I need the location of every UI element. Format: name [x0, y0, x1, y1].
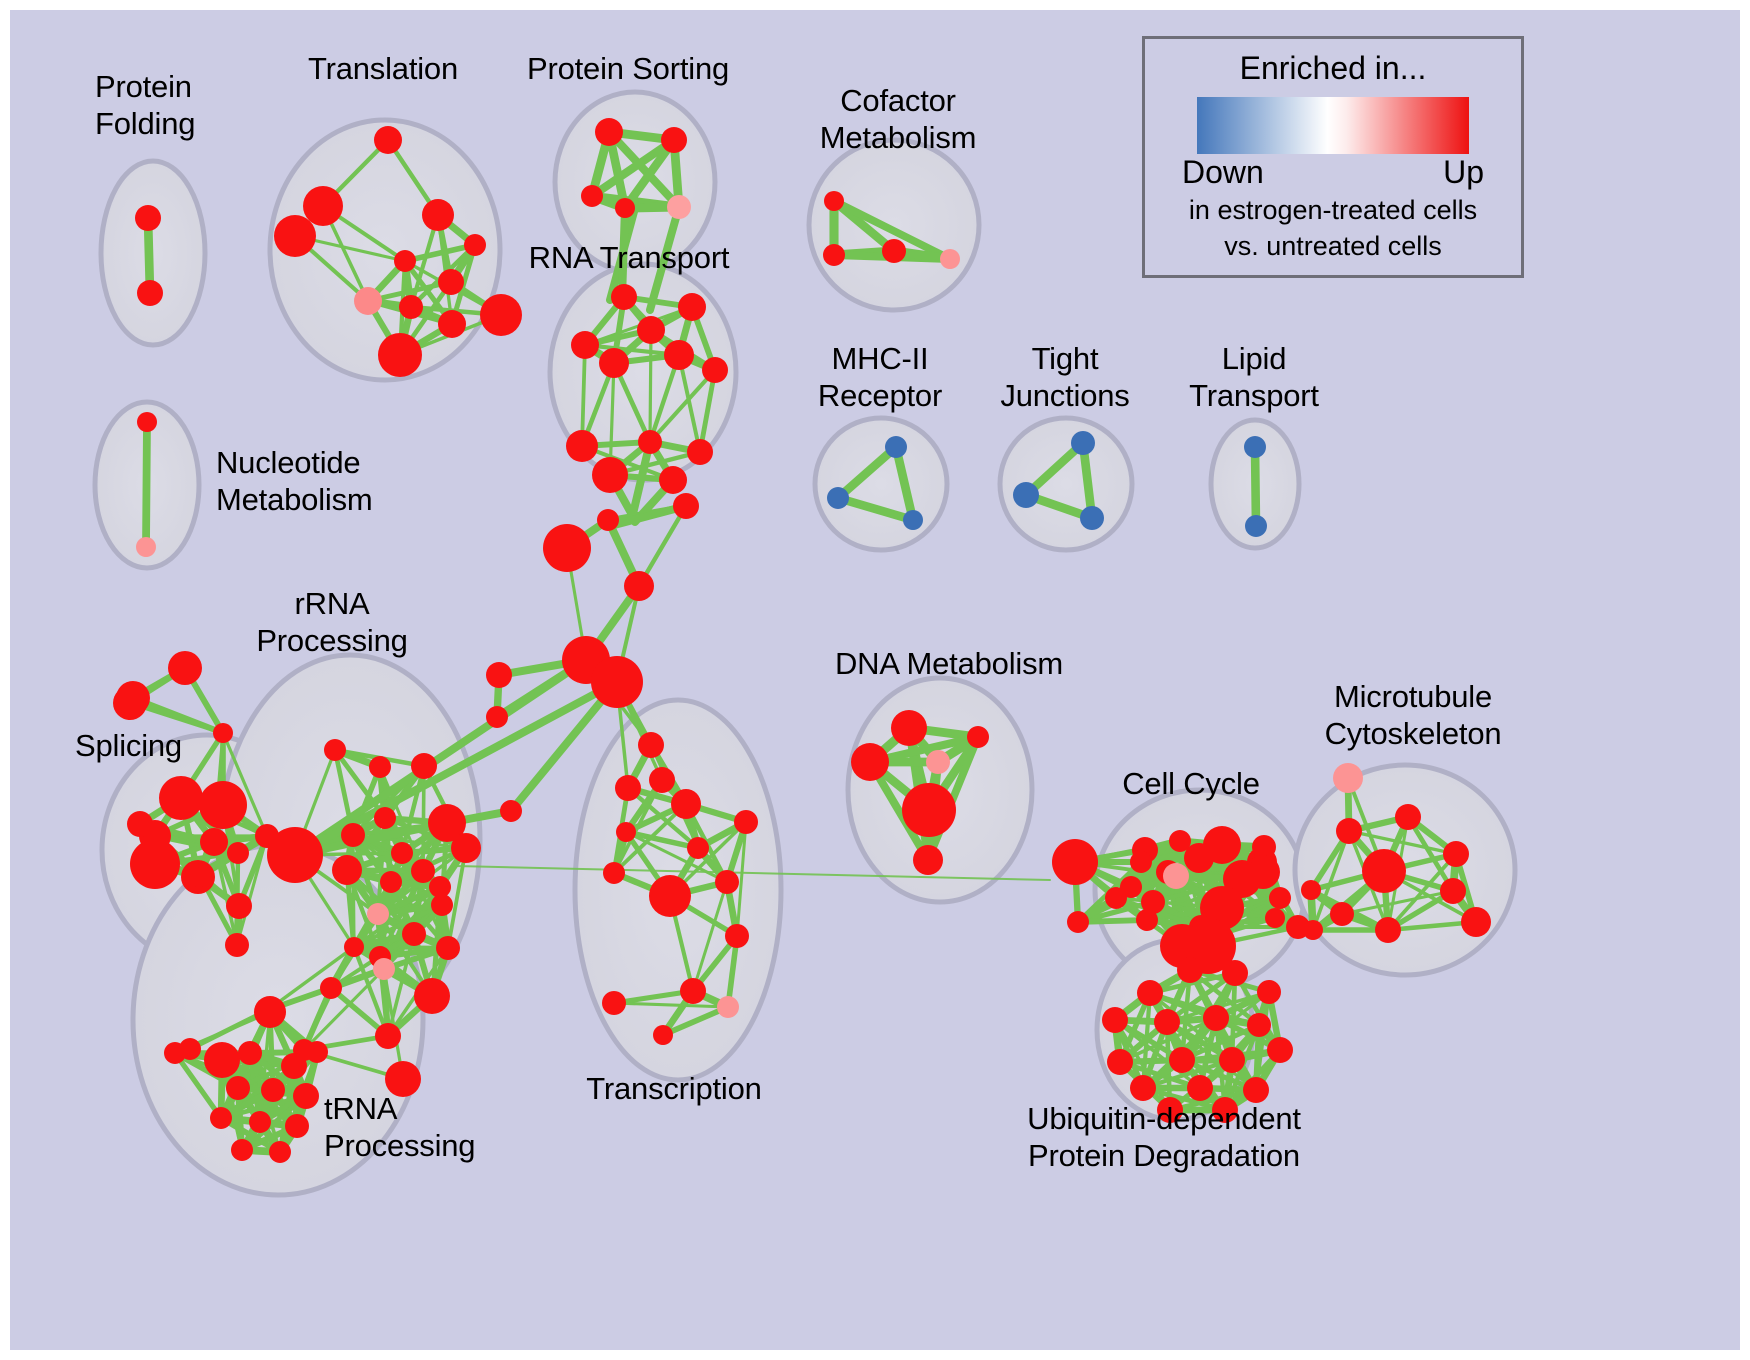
gene-set-node[interactable]: [411, 753, 437, 779]
gene-set-node[interactable]: [137, 280, 163, 306]
gene-set-node[interactable]: [1333, 763, 1363, 793]
gene-set-node[interactable]: [231, 1139, 253, 1161]
gene-set-node[interactable]: [1013, 482, 1039, 508]
cluster-label-protein-sorting: Protein Sorting: [527, 50, 729, 87]
cluster-label-line: rRNA: [256, 585, 407, 622]
gene-set-node[interactable]: [226, 1076, 250, 1100]
gene-set-node[interactable]: [378, 333, 422, 377]
gene-set-node[interactable]: [1375, 917, 1401, 943]
cluster-label-line: Lipid: [1189, 340, 1319, 377]
gene-set-node[interactable]: [885, 436, 907, 458]
gene-set-node[interactable]: [324, 739, 346, 761]
gene-set-node[interactable]: [1269, 887, 1291, 909]
gene-set-node[interactable]: [1247, 1013, 1271, 1037]
gene-set-node[interactable]: [199, 781, 247, 829]
gene-set-node[interactable]: [1052, 839, 1098, 885]
gene-set-node[interactable]: [1107, 1049, 1133, 1075]
gene-set-node[interactable]: [373, 958, 395, 980]
gene-set-node[interactable]: [597, 509, 619, 531]
gene-set-node[interactable]: [436, 936, 460, 960]
gene-set-node[interactable]: [671, 789, 701, 819]
legend-high-label: Up: [1443, 154, 1484, 191]
gene-set-node[interactable]: [399, 295, 423, 319]
gene-set-node[interactable]: [734, 810, 758, 834]
gene-set-node[interactable]: [226, 893, 252, 919]
gene-set-node[interactable]: [667, 195, 691, 219]
cluster-label-line: Receptor: [818, 377, 942, 414]
gene-set-node[interactable]: [261, 1078, 285, 1102]
cluster-label-line: Metabolism: [216, 481, 373, 518]
gene-set-node[interactable]: [293, 1083, 319, 1109]
edge: [146, 422, 147, 547]
cluster-label-line: DNA Metabolism: [835, 645, 1063, 682]
legend-subtitle-line-1: in estrogen-treated cells: [1145, 194, 1521, 227]
gene-set-node[interactable]: [913, 845, 943, 875]
gene-set-node[interactable]: [649, 875, 691, 917]
gene-set-node[interactable]: [615, 198, 635, 218]
cluster-label-line: tRNA: [324, 1090, 475, 1127]
gene-set-node[interactable]: [661, 127, 687, 153]
cluster-label-trna-processing: tRNAProcessing: [324, 1090, 475, 1164]
legend-low-label: Down: [1182, 154, 1264, 191]
cluster-label-line: Processing: [256, 622, 407, 659]
cluster-hull: [815, 418, 947, 550]
cluster-label-rna-transport: RNA Transport: [529, 239, 730, 276]
cluster-label-line: Translation: [308, 50, 458, 87]
gene-set-node[interactable]: [354, 287, 382, 315]
gene-set-node[interactable]: [422, 199, 454, 231]
gene-set-node[interactable]: [391, 842, 413, 864]
gene-set-node[interactable]: [725, 924, 749, 948]
gene-set-node[interactable]: [1203, 1005, 1229, 1031]
gene-set-node[interactable]: [394, 250, 416, 272]
gene-set-node[interactable]: [168, 651, 202, 685]
gene-set-node[interactable]: [208, 1044, 238, 1074]
figure-root: ProteinFoldingTranslationProtein Sorting…: [0, 0, 1750, 1360]
gene-set-node[interactable]: [1330, 902, 1354, 926]
cluster-label-line: Nucleotide: [216, 444, 373, 481]
gene-set-node[interactable]: [332, 855, 362, 885]
gene-set-node[interactable]: [616, 822, 636, 842]
gene-set-node[interactable]: [1102, 1007, 1128, 1033]
gene-set-node[interactable]: [1071, 431, 1095, 455]
gene-set-node[interactable]: [303, 186, 343, 226]
gene-set-node[interactable]: [1245, 515, 1267, 537]
gene-set-node[interactable]: [285, 1114, 309, 1138]
gene-set-node[interactable]: [571, 331, 599, 359]
gene-set-node[interactable]: [673, 493, 699, 519]
cluster-label-cell-cycle: Cell Cycle: [1122, 765, 1260, 802]
gene-set-node[interactable]: [599, 348, 629, 378]
cluster-label-line: Protein Degradation: [1027, 1137, 1301, 1174]
gene-set-node[interactable]: [1130, 1075, 1156, 1101]
cluster-label-mhc-ii-receptor: MHC-IIReceptor: [818, 340, 942, 414]
gene-set-node[interactable]: [127, 811, 153, 837]
gene-set-node[interactable]: [1154, 1009, 1180, 1035]
gene-set-node[interactable]: [431, 894, 453, 916]
gene-set-node[interactable]: [159, 776, 203, 820]
gene-set-node[interactable]: [637, 316, 665, 344]
gene-set-node[interactable]: [438, 310, 466, 338]
cluster-label-transcription: Transcription: [586, 1070, 761, 1107]
gene-set-node[interactable]: [1303, 920, 1323, 940]
cluster-label-line: Protein: [95, 68, 195, 105]
cluster-label-line: RNA Transport: [529, 239, 730, 276]
cluster-label-line: Processing: [324, 1127, 475, 1164]
gene-set-node[interactable]: [486, 662, 512, 688]
gene-set-node[interactable]: [1267, 1037, 1293, 1063]
gene-set-node[interactable]: [717, 996, 739, 1018]
gene-set-node[interactable]: [659, 466, 687, 494]
gene-set-node[interactable]: [615, 775, 641, 801]
gene-set-node[interactable]: [137, 412, 157, 432]
gene-set-node[interactable]: [1443, 841, 1469, 867]
gene-set-node[interactable]: [1105, 887, 1127, 909]
gene-set-node[interactable]: [824, 191, 844, 211]
gene-set-node[interactable]: [566, 430, 598, 462]
gene-set-node[interactable]: [344, 937, 364, 957]
legend-title: Enriched in...: [1145, 50, 1521, 87]
gene-set-node[interactable]: [581, 185, 603, 207]
gene-set-node[interactable]: [480, 294, 522, 336]
legend-box: Enriched in... Down Up in estrogen-treat…: [1142, 36, 1524, 278]
gene-set-node[interactable]: [611, 284, 637, 310]
gene-set-node[interactable]: [269, 1141, 291, 1163]
cluster-label-line: Tight: [1000, 340, 1129, 377]
gene-set-node[interactable]: [267, 827, 323, 883]
gene-set-node[interactable]: [225, 933, 249, 957]
gene-set-node[interactable]: [715, 870, 739, 894]
cluster-label-line: Cytoskeleton: [1325, 715, 1502, 752]
gene-set-node[interactable]: [882, 239, 906, 263]
gene-set-node[interactable]: [411, 859, 435, 883]
gene-set-node[interactable]: [1362, 849, 1406, 893]
edge: [1255, 447, 1256, 526]
cluster-label-line: Cofactor: [820, 82, 977, 119]
cluster-label-lipid-transport: LipidTransport: [1189, 340, 1319, 414]
gene-set-node[interactable]: [1395, 804, 1421, 830]
cluster-label-line: MHC-II: [818, 340, 942, 377]
gene-set-node[interactable]: [1163, 863, 1189, 889]
gene-set-node[interactable]: [135, 205, 161, 231]
network-canvas: ProteinFoldingTranslationProtein Sorting…: [10, 10, 1740, 1350]
gene-set-node[interactable]: [602, 991, 626, 1015]
gene-set-node[interactable]: [1257, 980, 1281, 1004]
gene-set-node[interactable]: [274, 215, 316, 257]
gene-set-node[interactable]: [891, 710, 927, 746]
cluster-label-line: Metabolism: [820, 119, 977, 156]
gene-set-node[interactable]: [380, 871, 402, 893]
cluster-label-rrna-processing: rRNAProcessing: [256, 585, 407, 659]
gene-set-node[interactable]: [341, 823, 365, 847]
gene-set-node[interactable]: [680, 978, 706, 1004]
legend-subtitle-line-2: vs. untreated cells: [1145, 230, 1521, 263]
gene-set-node[interactable]: [687, 439, 713, 465]
gene-set-node[interactable]: [1244, 436, 1266, 458]
gene-set-node[interactable]: [1219, 1047, 1245, 1073]
cluster-label-nucleotide-metabolism: NucleotideMetabolism: [216, 444, 373, 518]
gene-set-node[interactable]: [1137, 980, 1163, 1006]
gene-set-node[interactable]: [451, 833, 481, 863]
gene-set-node[interactable]: [678, 293, 706, 321]
gene-set-node[interactable]: [116, 681, 150, 715]
color-gradient-bar: [1197, 97, 1469, 154]
gene-set-node[interactable]: [200, 828, 228, 856]
gene-set-node[interactable]: [664, 340, 694, 370]
gene-set-node[interactable]: [649, 767, 675, 793]
gene-set-node[interactable]: [1265, 908, 1285, 928]
cluster-label-line: Cell Cycle: [1122, 765, 1260, 802]
gene-set-node[interactable]: [653, 1025, 673, 1045]
gene-set-node[interactable]: [179, 1038, 201, 1060]
gene-set-node[interactable]: [595, 118, 623, 146]
gene-set-node[interactable]: [414, 978, 450, 1014]
gene-set-node[interactable]: [902, 783, 956, 837]
cluster-label-microtubule-cytoskeleton: MicrotubuleCytoskeleton: [1325, 678, 1502, 752]
gene-set-node[interactable]: [1301, 880, 1321, 900]
gene-set-node[interactable]: [213, 723, 233, 743]
gene-set-node[interactable]: [227, 842, 249, 864]
gene-set-node[interactable]: [1130, 851, 1152, 873]
gene-set-node[interactable]: [320, 977, 342, 999]
gene-set-node[interactable]: [1177, 957, 1203, 983]
gene-set-node[interactable]: [940, 249, 960, 269]
gene-set-node[interactable]: [1203, 826, 1241, 864]
cluster-label-cofactor-metabolism: CofactorMetabolism: [820, 82, 977, 156]
cluster-label-line: Junctions: [1000, 377, 1129, 414]
gene-set-node[interactable]: [603, 862, 625, 884]
cluster-label-line: Splicing: [75, 727, 182, 764]
gene-set-node[interactable]: [1336, 818, 1362, 844]
gene-set-node[interactable]: [543, 524, 591, 572]
cluster-label-tight-junctions: TightJunctions: [1000, 340, 1129, 414]
cluster-label-protein-folding: ProteinFolding: [95, 68, 195, 142]
gene-set-node[interactable]: [1461, 907, 1491, 937]
gene-set-node[interactable]: [1080, 506, 1104, 530]
gene-set-node[interactable]: [486, 706, 508, 728]
cluster-label-translation: Translation: [308, 50, 458, 87]
cluster-label-line: Ubiquitin-dependent: [1027, 1100, 1301, 1137]
gene-set-node[interactable]: [827, 487, 849, 509]
gene-set-node[interactable]: [1187, 1075, 1213, 1101]
gene-set-node[interactable]: [903, 510, 923, 530]
gene-set-node[interactable]: [1222, 960, 1248, 986]
cluster-label-splicing: Splicing: [75, 727, 182, 764]
gene-set-node[interactable]: [1169, 1047, 1195, 1073]
gene-set-node[interactable]: [369, 756, 391, 778]
edge: [650, 330, 651, 442]
gene-set-node[interactable]: [967, 726, 989, 748]
gene-set-node[interactable]: [1067, 911, 1089, 933]
cluster-label-line: Transport: [1189, 377, 1319, 414]
gene-set-node[interactable]: [186, 861, 212, 887]
gene-set-node[interactable]: [823, 244, 845, 266]
gene-set-node[interactable]: [254, 996, 286, 1028]
gene-set-node[interactable]: [638, 430, 662, 454]
gene-set-node[interactable]: [687, 837, 709, 859]
gene-set-node[interactable]: [238, 1041, 262, 1065]
gene-set-node[interactable]: [438, 269, 464, 295]
cluster-label-ubiquitin-degradation: Ubiquitin-dependentProtein Degradation: [1027, 1100, 1301, 1174]
cluster-label-line: Transcription: [586, 1070, 761, 1107]
gene-set-node[interactable]: [210, 1107, 232, 1129]
gene-set-node[interactable]: [367, 903, 389, 925]
cluster-label-dna-metabolism: DNA Metabolism: [835, 645, 1063, 682]
gene-set-node[interactable]: [136, 537, 156, 557]
gene-set-node[interactable]: [402, 922, 426, 946]
gene-set-node[interactable]: [375, 1023, 401, 1049]
gene-set-node[interactable]: [464, 234, 486, 256]
cluster-label-line: Folding: [95, 105, 195, 142]
gene-set-node[interactable]: [926, 750, 950, 774]
gene-set-node[interactable]: [500, 800, 522, 822]
gene-set-node[interactable]: [374, 807, 396, 829]
gene-set-node[interactable]: [638, 732, 664, 758]
cluster-label-line: Microtubule: [1325, 678, 1502, 715]
gene-set-node[interactable]: [851, 743, 889, 781]
cluster-label-line: Protein Sorting: [527, 50, 729, 87]
gene-set-node[interactable]: [249, 1111, 271, 1133]
gene-set-node[interactable]: [702, 357, 728, 383]
gene-set-node[interactable]: [592, 457, 628, 493]
gene-set-node[interactable]: [1440, 878, 1466, 904]
gene-set-node[interactable]: [374, 126, 402, 154]
gene-set-node[interactable]: [591, 656, 643, 708]
gene-set-node[interactable]: [1136, 909, 1158, 931]
gene-set-node[interactable]: [624, 571, 654, 601]
gene-set-node[interactable]: [281, 1053, 307, 1079]
gene-set-node[interactable]: [306, 1041, 328, 1063]
